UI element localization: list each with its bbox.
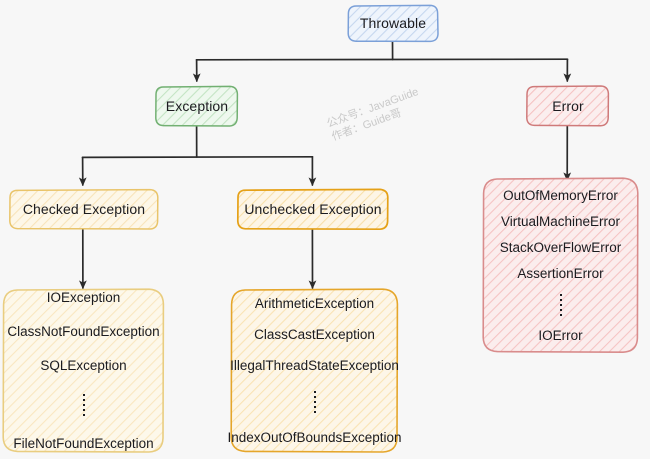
leafbox-checked-list[interactable] (3, 289, 163, 452)
diagram-canvas: 公众号：JavaGuide 作者：Guide哥 Throwable Except… (0, 0, 650, 459)
node-checked-exception[interactable] (10, 190, 158, 229)
leafbox-error-list[interactable] (483, 178, 638, 352)
edge-exception-bar (83, 157, 313, 158)
leafbox-unchecked-list[interactable] (231, 289, 397, 452)
node-unchecked-exception[interactable] (238, 189, 388, 229)
diagram-svg (0, 0, 650, 459)
edge-throwable-bar (197, 59, 568, 60)
node-throwable[interactable] (348, 5, 438, 41)
node-error[interactable] (527, 86, 609, 126)
node-exception[interactable] (156, 86, 238, 126)
